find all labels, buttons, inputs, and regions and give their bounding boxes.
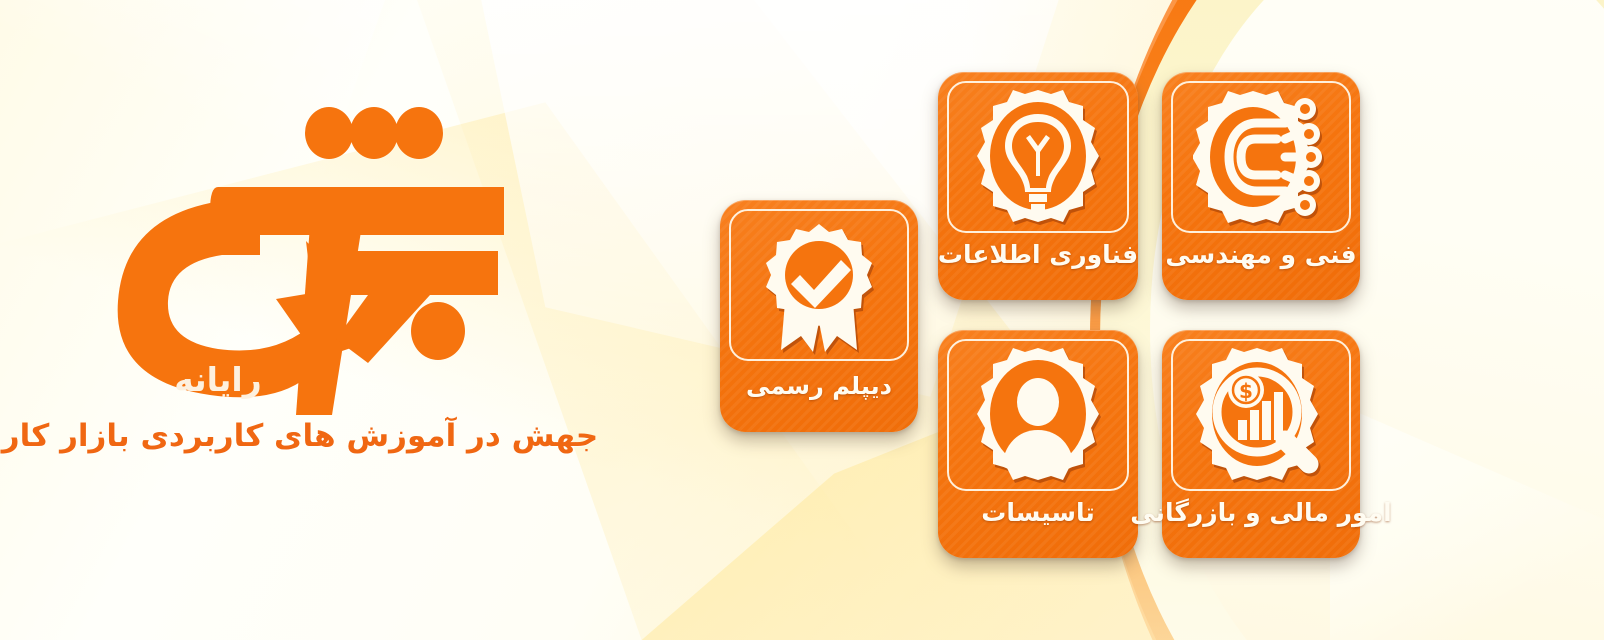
brand-logo[interactable]: رایانه bbox=[100, 95, 520, 415]
tile-label: تاسیسات bbox=[981, 498, 1095, 527]
logo-subtext: رایانه bbox=[174, 360, 262, 399]
gear-magnifier-barchart-dollar-icon: $ bbox=[1162, 330, 1360, 496]
svg-text:$: $ bbox=[1239, 379, 1253, 403]
gear-circuit-nodes-icon bbox=[1162, 72, 1360, 238]
tile-label: فنی و مهندسی bbox=[1165, 240, 1356, 269]
jahesh-rayaneh-logo-icon: رایانه bbox=[100, 95, 520, 415]
tile-label: دیپلم رسمی bbox=[746, 372, 892, 400]
banner-stage: رایانه جهش در آموزش های کاربردی بازار کا… bbox=[0, 0, 1604, 640]
brand-tagline: جهش در آموزش های کاربردی بازار کار bbox=[0, 418, 600, 454]
tile-label: امور مالی و بازرگانی bbox=[1130, 498, 1391, 527]
tile-technical-engineering[interactable]: فنی و مهندسی bbox=[1162, 72, 1360, 300]
tile-label: فناوری اطلاعات bbox=[938, 240, 1138, 269]
tile-diploma[interactable]: دیپلم رسمی bbox=[720, 200, 918, 432]
badge-ribbon-check-icon bbox=[720, 200, 918, 368]
tile-facilities[interactable]: تاسیسات bbox=[938, 330, 1138, 558]
tile-financial-commercial[interactable]: $ امور مالی و بازرگانی bbox=[1162, 330, 1360, 558]
gear-lightbulb-icon bbox=[938, 72, 1138, 238]
gear-person-icon bbox=[938, 330, 1138, 496]
tile-information-technology[interactable]: فناوری اطلاعات bbox=[938, 72, 1138, 300]
